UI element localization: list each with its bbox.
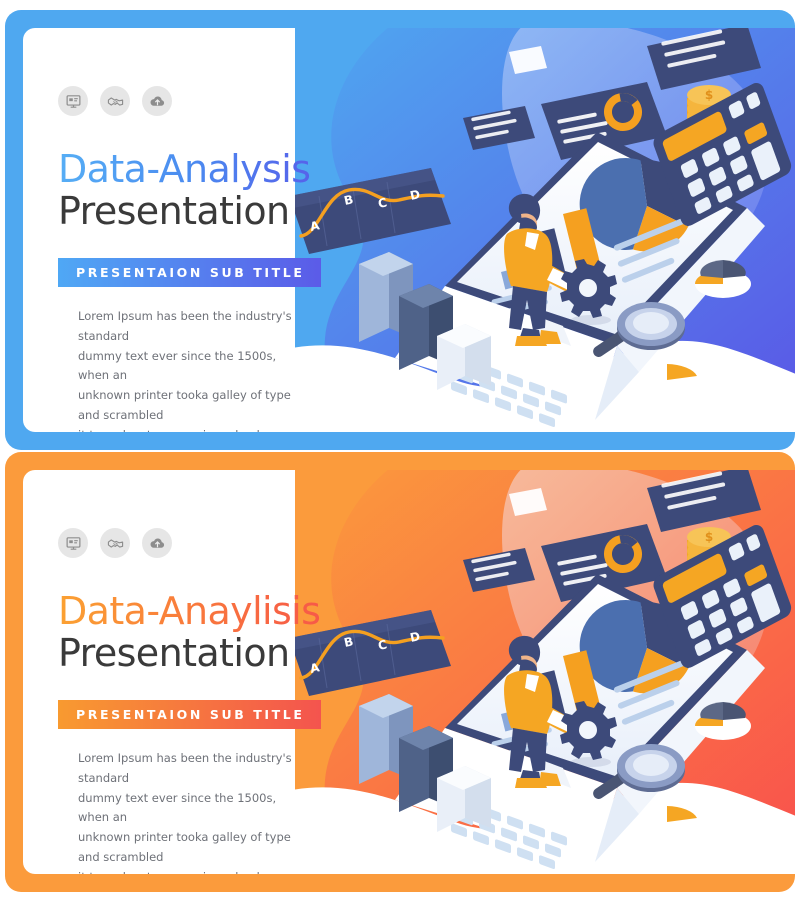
body-line: it to make atype specimen book. <box>78 426 310 432</box>
banner-blue-ribbon[interactable]: PRESENTAION SUB TITLE <box>58 258 321 287</box>
handshake-icon[interactable] <box>100 528 130 558</box>
banner-orange-title-plain: Presentation <box>58 632 353 675</box>
banner-orange-card: A B C D <box>23 470 795 874</box>
coin-symbol: $ <box>705 530 713 544</box>
banner-orange-content: Data-Anaylisis Presentation PRESENTAION … <box>23 470 353 874</box>
presentation-screen-icon[interactable] <box>58 86 88 116</box>
presentation-banner-page: A B C D <box>0 0 800 900</box>
banner-orange-illustration: A B C D <box>295 470 795 874</box>
banner-blue[interactable]: A B C D <box>5 10 795 450</box>
cloud-upload-icon[interactable] <box>142 86 172 116</box>
handshake-icon[interactable] <box>100 86 130 116</box>
banner-orange-title-accent: Data-Anaylisis <box>58 592 353 632</box>
banner-blue-body: Lorem Ipsum has been the industry's stan… <box>58 307 310 432</box>
body-line: it to make atype specimen book. <box>78 868 310 874</box>
body-line: Lorem Ipsum has been the industry's stan… <box>78 749 310 789</box>
banner-orange-icon-row <box>58 528 353 558</box>
banner-orange-ribbon[interactable]: PRESENTAION SUB TITLE <box>58 700 321 729</box>
coin-symbol: $ <box>705 88 713 102</box>
banner-blue-card: A B C D <box>23 28 795 432</box>
banner-blue-illustration: A B C D <box>295 28 795 432</box>
body-line: dummy text ever since the 1500s, when an <box>78 347 310 387</box>
banner-blue-title-plain: Presentation <box>58 190 353 233</box>
body-line: Lorem Ipsum has been the industry's stan… <box>78 307 310 347</box>
banner-orange[interactable]: A B C D <box>5 452 795 892</box>
body-line: unknown printer tooka galley of type and… <box>78 386 310 426</box>
body-line: dummy text ever since the 1500s, when an <box>78 789 310 829</box>
banner-blue-content: Data-Analysis Presentation PRESENTAION S… <box>23 28 353 432</box>
presentation-screen-icon[interactable] <box>58 528 88 558</box>
cloud-upload-icon[interactable] <box>142 528 172 558</box>
banner-blue-title-accent: Data-Analysis <box>58 150 353 190</box>
body-line: unknown printer tooka galley of type and… <box>78 828 310 868</box>
banner-blue-icon-row <box>58 86 353 116</box>
banner-orange-body: Lorem Ipsum has been the industry's stan… <box>58 749 310 874</box>
